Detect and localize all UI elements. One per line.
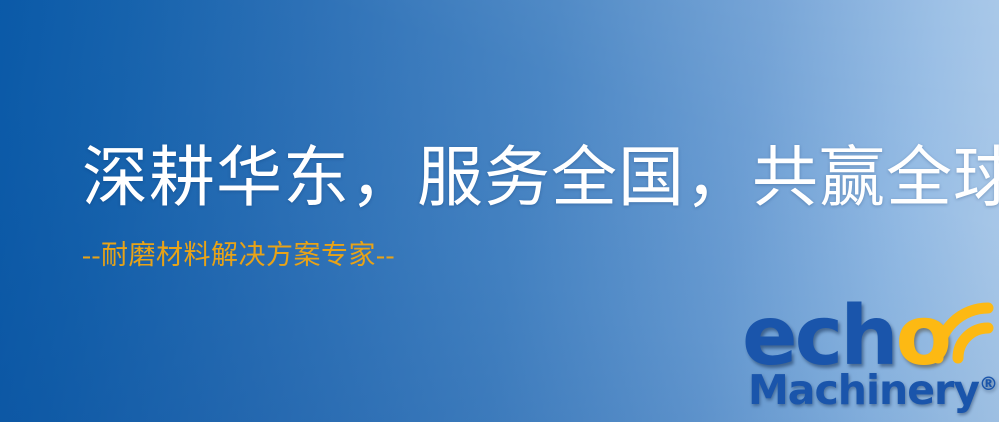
- logo-subbrand: Machinery®: [748, 370, 998, 411]
- banner-subtitle: --耐磨材料解决方案专家--: [82, 242, 962, 269]
- banner-text-block: 深耕华东，服务全国，共赢全球 --耐磨材料解决方案专家--: [82, 146, 962, 269]
- registered-trademark-icon: ®: [979, 373, 998, 395]
- banner-headline: 深耕华东，服务全国，共赢全球: [82, 146, 962, 212]
- hero-banner: 深耕华东，服务全国，共赢全球 --耐磨材料解决方案专家-- echo Machi…: [0, 0, 999, 422]
- echo-machinery-logo[interactable]: echo Machinery®: [742, 296, 999, 422]
- logo-subbrand-text: Machinery: [748, 366, 979, 414]
